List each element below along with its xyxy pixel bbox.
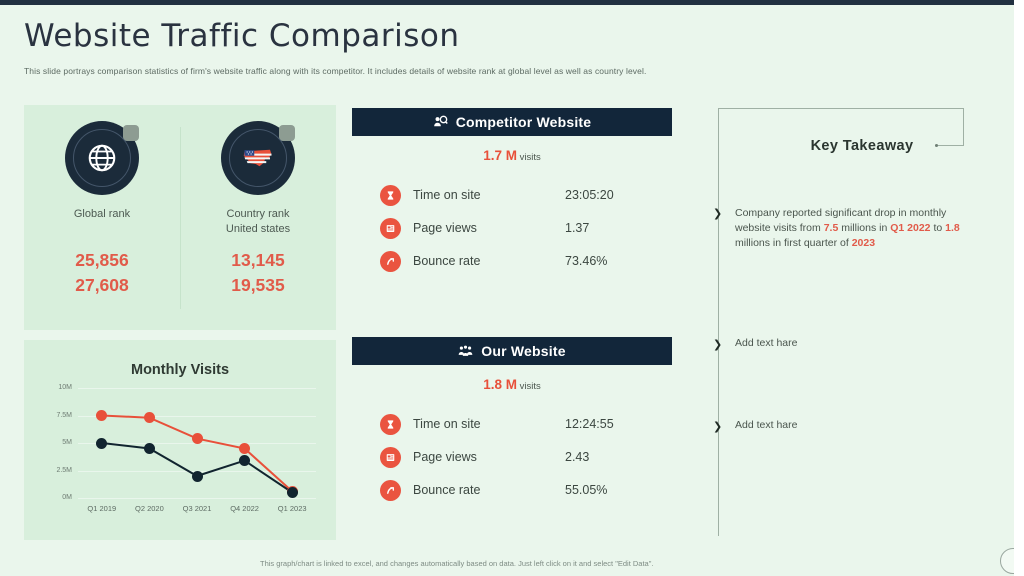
key-takeaway-fragment: millions in first quarter of [735, 237, 852, 249]
key-takeaway-bullet: ❯ [713, 420, 722, 433]
people-group-icon [458, 344, 473, 359]
metric-value: 55.05% [565, 483, 607, 497]
metric-label: Page views [413, 450, 477, 464]
key-takeaway-placeholder: Add text hare [735, 337, 797, 349]
metric-label: Time on site [413, 188, 481, 202]
chart-ytick: 0M [32, 494, 72, 501]
visits-our: 1.8 M visits [352, 377, 672, 392]
bounce-arrow-icon [380, 251, 401, 272]
panel-title-our: Our Website [481, 343, 565, 359]
chart-ytick: 2.5M [32, 467, 72, 474]
metric-value: 2.43 [565, 450, 589, 464]
rank-column-country: Country rank United states 13,145 19,535 [180, 105, 336, 330]
chart-xtick: Q1 2023 [262, 504, 322, 513]
key-takeaway-highlight: 2023 [852, 237, 875, 249]
metric-label: Bounce rate [413, 254, 480, 268]
chart-ytick: 7.5M [32, 412, 72, 419]
rank-card: Global rank 25,856 27,608 Country rank U… [24, 105, 336, 330]
footer-note: This graph/chart is linked to excel, and… [260, 559, 820, 568]
rank-value-global-2: 27,608 [24, 275, 180, 296]
visits-value-competitor: 1.7 M [483, 148, 517, 163]
chart-data-point [192, 471, 203, 482]
key-takeaway-vertical-line [718, 108, 719, 536]
key-takeaway-highlight: Q1 2022 [890, 222, 930, 234]
chart-gridline [78, 498, 316, 499]
visits-value-our: 1.8 M [483, 377, 517, 392]
people-search-icon [433, 115, 448, 130]
chart-data-point [144, 443, 155, 454]
metric-label: Page views [413, 221, 477, 235]
badge-nub [279, 125, 295, 141]
metric-value: 1.37 [565, 221, 589, 235]
panel-title-competitor: Competitor Website [456, 114, 592, 130]
monthly-visits-chart-card[interactable]: Monthly Visits 10M7.5M5M2.5M0MQ1 2019Q2 … [24, 340, 336, 540]
slide-canvas: Website Traffic Comparison This slide po… [0, 0, 1014, 576]
metric-row: Page views [380, 446, 477, 468]
globe-icon [88, 144, 116, 172]
page-title: Website Traffic Comparison [24, 18, 460, 54]
chart-data-point [287, 487, 298, 498]
chart-data-point [144, 412, 155, 423]
key-takeaway-bullet: ❯ [713, 338, 722, 351]
usa-flag-map-icon [243, 148, 273, 169]
rank-label-global: Global rank [24, 207, 180, 222]
key-takeaway-highlight: 1.8 [945, 222, 960, 234]
top-accent-bar [0, 0, 1014, 5]
chart-plot-area: 10M7.5M5M2.5M0MQ1 2019Q2 2020Q3 2021Q4 2… [78, 388, 316, 498]
globe-badge [69, 125, 135, 191]
rank-label-country: Country rank United states [180, 207, 336, 237]
page-subtitle: This slide portrays comparison statistic… [24, 66, 964, 76]
metric-row: Page views [380, 217, 477, 239]
rank-value-country-2: 19,535 [180, 275, 336, 296]
key-takeaway-highlight: 7.5 [824, 222, 839, 234]
bounce-arrow-icon [380, 480, 401, 501]
key-takeaway-fragment: millions in [838, 222, 890, 234]
metric-value: 73.46% [565, 254, 607, 268]
metric-value: 12:24:55 [565, 417, 614, 431]
rank-value-global-1: 25,856 [24, 250, 180, 271]
key-takeaway-text: Company reported significant drop in mon… [735, 206, 963, 251]
visits-suffix-competitor: visits [517, 152, 541, 163]
chart-data-point [192, 433, 203, 444]
right-edge-strip [1014, 0, 1024, 576]
rank-value-country-1: 13,145 [180, 250, 336, 271]
rank-label-country-line2: United states [226, 223, 290, 235]
key-takeaway-fragment: to [931, 222, 946, 234]
panel-header-our: Our Website [352, 337, 672, 365]
key-takeaway-top-line [718, 108, 964, 109]
rank-label-country-line1: Country rank [227, 208, 290, 220]
hourglass-icon [380, 414, 401, 435]
panel-header-competitor: Competitor Website [352, 108, 672, 136]
metric-label: Time on site [413, 417, 481, 431]
chart-title: Monthly Visits [24, 362, 336, 378]
page-views-icon [380, 218, 401, 239]
hourglass-icon [380, 185, 401, 206]
metric-row: Bounce rate [380, 479, 480, 501]
rank-column-global: Global rank 25,856 27,608 [24, 105, 180, 330]
country-badge [225, 125, 291, 191]
visits-suffix-our: visits [517, 381, 541, 392]
metric-label: Bounce rate [413, 483, 480, 497]
chart-ytick: 10M [32, 384, 72, 391]
metric-row: Bounce rate [380, 250, 480, 272]
metric-value: 23:05:20 [565, 188, 614, 202]
visits-competitor: 1.7 M visits [352, 148, 672, 163]
badge-nub [123, 125, 139, 141]
metric-row: Time on site [380, 184, 481, 206]
metric-row: Time on site [380, 413, 481, 435]
key-takeaway-title: Key Takeaway [752, 138, 972, 154]
page-views-icon [380, 447, 401, 468]
chart-ytick: 5M [32, 439, 72, 446]
chart-data-point [96, 438, 107, 449]
key-takeaway-bullet: ❯ [713, 207, 722, 220]
corner-decoration-circle [1000, 548, 1014, 574]
key-takeaway-placeholder: Add text hare [735, 419, 797, 431]
